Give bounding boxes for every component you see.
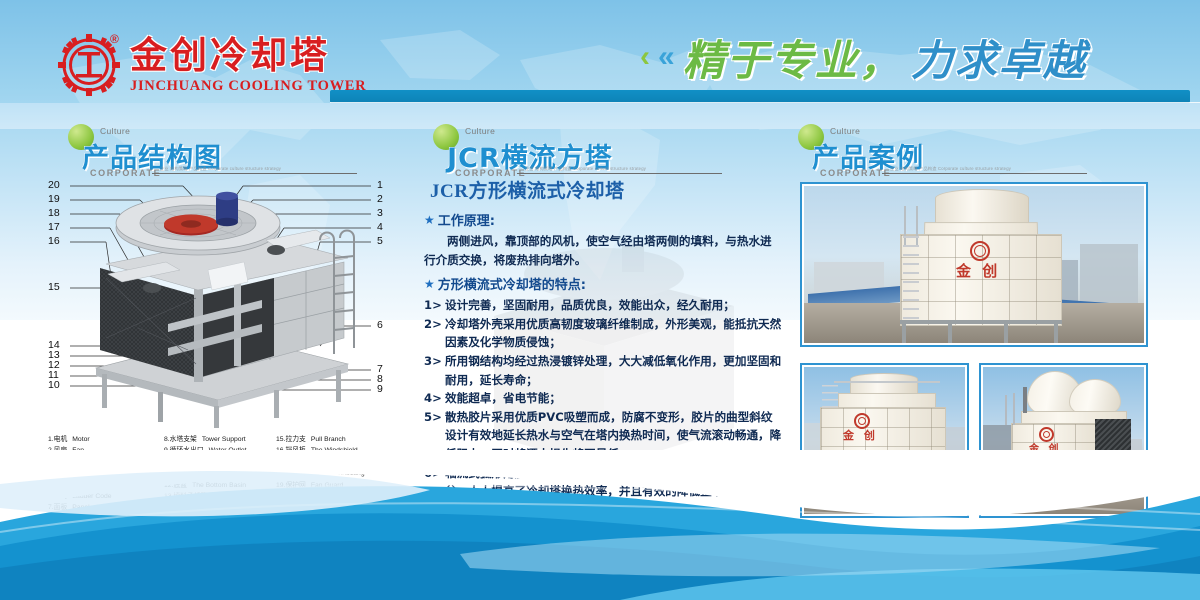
legend-label-en: Pull Branch (311, 436, 346, 443)
section-eyebrow: Culture (465, 126, 495, 136)
section-header-product-cases: Culture 产品案例 CORPORATE 企业 结构策略 产品构造 Corp… (790, 122, 1120, 180)
support-leg (902, 322, 906, 343)
legend-label-cn: 水塔支架 (170, 435, 197, 443)
chevron-double-icon: « (658, 42, 675, 72)
tower-brand-text: 金 创 (843, 427, 878, 443)
section-subtitle: CORPORATE (820, 168, 891, 178)
feature-text: 效能超卓，省电节能； (445, 391, 561, 405)
callout-2: 2 (377, 193, 383, 205)
feature-number: 5> (424, 408, 442, 427)
section-microtext: 企业 结构策略 产品构造 Corporate culture structure… (525, 166, 646, 172)
jcr-title: JCR方形横流式冷却塔 (430, 176, 782, 203)
working-principle-text: 两侧进风，靠顶部的风机，使空气经由塔两侧的填料，与热水进行介质交换，将废热排向塔… (424, 232, 782, 269)
feature-item: 3>所用钢结构均经过热浸镀锌处理，大大减低氧化作用，更加坚固和耐用，延长寿命； (424, 352, 782, 389)
section-divider (152, 173, 357, 174)
poster-canvas: ® 金创冷却塔 JINCHUANG COOLING TOWER ‹ « 精于专业… (0, 0, 1200, 600)
features-heading: ★ 方形横流式冷却塔的特点: (424, 274, 782, 293)
exhaust-pipe (1023, 387, 1027, 413)
feature-number: 1> (424, 296, 442, 315)
section-subtitle: CORPORATE (90, 168, 161, 178)
tower-brand-text: 金 创 (956, 260, 1000, 281)
legend-label-cn: 拉力支 (285, 435, 305, 443)
callout-15: 15 (48, 281, 60, 293)
star-icon: ★ (424, 213, 435, 227)
feature-number: 4> (424, 389, 442, 408)
callout-4: 4 (377, 221, 383, 233)
section-header-product-structure: Culture 产品结构图 CORPORATE 企业 结构策略 产品构造 Cor… (60, 122, 390, 180)
company-logo: ® 金创冷却塔 JINCHUANG COOLING TOWER (58, 34, 366, 96)
company-emblem-icon (970, 241, 990, 261)
callout-1: 1 (377, 179, 383, 191)
feature-text: 冷却塔外壳采用优质高韧度玻璃纤维制成，外形美观，能抵抗天然因素及化学物质侵蚀； (445, 317, 781, 350)
feature-number: 3> (424, 352, 442, 371)
legend-label-en: Motor (72, 436, 89, 443)
working-principle-heading: ★ 工作原理: (424, 210, 782, 229)
feature-number: 2> (424, 315, 442, 334)
legend-label-cn: 电机 (54, 435, 68, 443)
features-label: 方形横流式冷却塔的特点: (438, 274, 586, 293)
legend-item: 15.拉力支Pull Branch (276, 434, 391, 445)
support-leg (1004, 322, 1008, 343)
slogan-part-blue: 力求卓越 (911, 27, 1087, 88)
working-principle-label: 工作原理: (438, 210, 495, 229)
bottom-wave-decoration (0, 450, 1200, 600)
slogan-part-green: 精于专业， (683, 27, 903, 88)
support-leg (1054, 322, 1058, 343)
section-header-jcr-tower: Culture JCR横流方塔 CORPORATE 企业 结构策略 产品构造 C… (425, 122, 755, 180)
support-leg (948, 322, 952, 343)
callout-20: 20 (48, 179, 60, 191)
section-divider (882, 173, 1087, 174)
logo-chinese-name: 金创冷却塔 (130, 37, 366, 74)
legend-label-en: Tower Support (202, 436, 246, 443)
star-icon: ★ (424, 277, 435, 291)
feature-item: 2>冷却塔外壳采用优质高韧度玻璃纤维制成，外形美观，能抵抗天然因素及化学物质侵蚀… (424, 315, 782, 352)
handrail (1013, 393, 1015, 425)
ladder (903, 236, 919, 324)
callout-16: 16 (48, 235, 60, 247)
callout-3: 3 (377, 207, 383, 219)
callout-9: 9 (377, 383, 383, 395)
feature-text: 所用钢结构均经过热浸镀锌处理，大大减低氧化作用，更加坚固和耐用，延长寿命； (445, 354, 781, 387)
callout-5: 5 (377, 235, 383, 247)
ladder (822, 385, 838, 411)
legend-item: 1.电机Motor (48, 434, 163, 445)
callout-18: 18 (48, 207, 60, 219)
section-microtext: 企业 结构策略 产品构造 Corporate culture structure… (160, 166, 281, 172)
feature-item: 4>效能超卓，省电节能； (424, 389, 782, 408)
photo-large-cooling-tower-rooftop: 金 创 (800, 182, 1148, 347)
background-building (1080, 244, 1138, 310)
support-beam (900, 320, 1062, 324)
section-microtext: 企业 结构策略 产品构造 Corporate culture structure… (890, 166, 1011, 172)
callout-17: 17 (48, 221, 60, 233)
registered-mark: ® (110, 32, 119, 46)
legend-item: 8.水塔支架Tower Support (164, 434, 274, 445)
gear-emblem-icon: ® (58, 34, 120, 96)
chevron-small-icon: ‹ (640, 42, 650, 72)
callout-10: 10 (48, 379, 60, 391)
cooling-tower-structure-diagram: 20 19 18 17 16 15 14 13 12 11 10 1 2 3 4… (48, 178, 393, 428)
section-divider (517, 173, 722, 174)
callout-6: 6 (377, 319, 383, 331)
section-eyebrow: Culture (830, 126, 860, 136)
slogan-banner: ‹ « 精于专业， 力求卓越 (640, 30, 1087, 84)
feature-text: 设计完善，坚固耐用，品质优良，效能出众，经久耐用； (445, 298, 735, 312)
handrail (834, 381, 940, 383)
callout-19: 19 (48, 193, 60, 205)
feature-item: 1>设计完善，坚固耐用，品质优良，效能出众，经久耐用； (424, 296, 782, 315)
handrail (1005, 395, 1007, 425)
section-eyebrow: Culture (100, 126, 130, 136)
